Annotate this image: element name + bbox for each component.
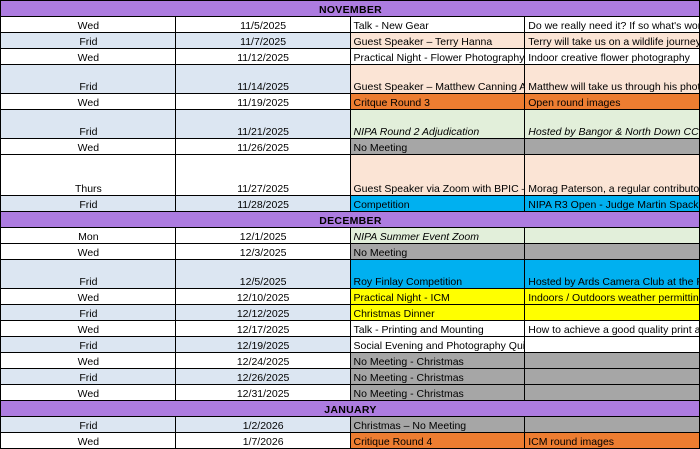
cell-detail: Hosted by Ards Camera Club at the Founta… [525, 260, 700, 289]
cell-detail: Hosted by Bangor & North Down CC, Founta… [525, 110, 700, 139]
month-header-january: JANUARY [1, 401, 700, 417]
cell-date: 12/10/2025 [175, 289, 350, 305]
cell-date: 11/26/2025 [175, 139, 350, 155]
cell-event: Roy Finlay Competition [350, 260, 525, 289]
table-row: Wed12/31/2025No Meeting - Christmas [1, 385, 700, 401]
month-header-november: NOVEMBER [1, 1, 700, 17]
cell-day: Frid [1, 65, 176, 94]
cell-day: Wed [1, 433, 176, 449]
cell-detail: Terry will take us on a wildlife journey [525, 33, 700, 49]
table-row: Frid11/7/2025Guest Speaker – Terry Hanna… [1, 33, 700, 49]
cell-detail: Morag Paterson, a regular contributor to… [525, 155, 700, 196]
cell-day: Frid [1, 305, 176, 321]
table-row: Mon12/1/2025NIPA Summer Event Zoom [1, 228, 700, 244]
month-header-december: DECEMBER [1, 212, 700, 228]
cell-event: Talk - New Gear [350, 17, 525, 33]
cell-event: Social Evening and Photography Quiz [350, 337, 525, 353]
cell-event: No Meeting [350, 244, 525, 260]
cell-date: 12/5/2025 [175, 260, 350, 289]
cell-day: Frid [1, 260, 176, 289]
cell-detail: Indoor creative flower photography [525, 49, 700, 65]
month-header-row: DECEMBER [1, 212, 700, 228]
table-row: Wed11/5/2025Talk - New GearDo we really … [1, 17, 700, 33]
cell-event: Practical Night - ICM [350, 289, 525, 305]
cell-date: 11/12/2025 [175, 49, 350, 65]
cell-day: Wed [1, 353, 176, 369]
cell-date: 11/14/2025 [175, 65, 350, 94]
table-row: Wed12/3/2025No Meeting [1, 244, 700, 260]
cell-day: Wed [1, 17, 176, 33]
table-row: Frid11/14/2025Guest Speaker – Matthew Ca… [1, 65, 700, 94]
cell-event: Guest Speaker – Matthew Canning AIPF, DP… [350, 65, 525, 94]
cell-date: 11/28/2025 [175, 196, 350, 212]
table-row: Frid12/19/2025Social Evening and Photogr… [1, 337, 700, 353]
cell-day: Frid [1, 369, 176, 385]
table-row: Wed12/10/2025Practical Night - ICMIndoor… [1, 289, 700, 305]
cell-detail [525, 244, 700, 260]
table-row: Wed11/19/2025Critque Round 3Open round i… [1, 94, 700, 110]
cell-day: Wed [1, 385, 176, 401]
cell-day: Frid [1, 196, 176, 212]
cell-date: 12/17/2025 [175, 321, 350, 337]
cell-event: No Meeting [350, 139, 525, 155]
cell-detail [525, 139, 700, 155]
cell-event: Talk - Printing and Mounting [350, 321, 525, 337]
cell-event: Christmas – No Meeting [350, 417, 525, 433]
cell-date: 11/21/2025 [175, 110, 350, 139]
cell-day: Wed [1, 139, 176, 155]
cell-date: 12/31/2025 [175, 385, 350, 401]
cell-detail: ICM round images [525, 433, 700, 449]
table-row: Wed11/12/2025Practical Night - Flower Ph… [1, 49, 700, 65]
cell-day: Frid [1, 337, 176, 353]
cell-date: 12/3/2025 [175, 244, 350, 260]
table-row: Frid12/12/2025Christmas Dinner [1, 305, 700, 321]
cell-day: Wed [1, 94, 176, 110]
cell-event: NIPA Round 2 Adjudication [350, 110, 525, 139]
cell-detail [525, 417, 700, 433]
schedule-body: NOVEMBERWed11/5/2025Talk - New GearDo we… [1, 1, 700, 449]
cell-day: Wed [1, 49, 176, 65]
cell-day: Mon [1, 228, 176, 244]
cell-detail [525, 337, 700, 353]
cell-date: 12/24/2025 [175, 353, 350, 369]
cell-date: 12/1/2025 [175, 228, 350, 244]
table-row: Thurs11/27/2025Guest Speaker via Zoom wi… [1, 155, 700, 196]
table-row: Frid12/5/2025Roy Finlay CompetitionHoste… [1, 260, 700, 289]
cell-detail: Indoors / Outdoors weather permitting [525, 289, 700, 305]
month-header-row: JANUARY [1, 401, 700, 417]
cell-detail [525, 353, 700, 369]
cell-date: 1/2/2026 [175, 417, 350, 433]
cell-date: 12/19/2025 [175, 337, 350, 353]
table-row: Wed11/26/2025No Meeting [1, 139, 700, 155]
cell-event: Practical Night - Flower Photography [350, 49, 525, 65]
cell-date: 11/7/2025 [175, 33, 350, 49]
table-row: Frid11/21/2025NIPA Round 2 AdjudicationH… [1, 110, 700, 139]
cell-detail: How to achieve a good quality print and … [525, 321, 700, 337]
table-row: Frid11/28/2025CompetitionNIPA R3 Open - … [1, 196, 700, 212]
cell-date: 1/7/2026 [175, 433, 350, 449]
cell-event: Christmas Dinner [350, 305, 525, 321]
cell-detail [525, 305, 700, 321]
cell-detail [525, 369, 700, 385]
cell-event: No Meeting - Christmas [350, 369, 525, 385]
cell-day: Frid [1, 33, 176, 49]
cell-event: Critique Round 4 [350, 433, 525, 449]
cell-day: Wed [1, 244, 176, 260]
cell-date: 12/26/2025 [175, 369, 350, 385]
cell-detail: Open round images [525, 94, 700, 110]
cell-detail: Do we really need it? If so what's worth… [525, 17, 700, 33]
cell-detail [525, 228, 700, 244]
cell-detail: Matthew will take us through his photogr… [525, 65, 700, 94]
cell-date: 11/27/2025 [175, 155, 350, 196]
table-row: Wed12/24/2025No Meeting - Christmas [1, 353, 700, 369]
cell-date: 12/12/2025 [175, 305, 350, 321]
table-row: Wed12/17/2025Talk - Printing and Mountin… [1, 321, 700, 337]
month-header-row: NOVEMBER [1, 1, 700, 17]
cell-event: Critque Round 3 [350, 94, 525, 110]
cell-event: Guest Speaker – Terry Hanna [350, 33, 525, 49]
table-row: Wed1/7/2026Critique Round 4ICM round ima… [1, 433, 700, 449]
cell-day: Wed [1, 289, 176, 305]
cell-day: Frid [1, 110, 176, 139]
cell-day: Frid [1, 417, 176, 433]
cell-day: Thurs [1, 155, 176, 196]
cell-date: 11/19/2025 [175, 94, 350, 110]
table-row: Frid1/2/2026Christmas – No Meeting [1, 417, 700, 433]
cell-detail [525, 385, 700, 401]
cell-event: No Meeting - Christmas [350, 353, 525, 369]
cell-day: Wed [1, 321, 176, 337]
cell-event: No Meeting - Christmas [350, 385, 525, 401]
cell-date: 11/5/2025 [175, 17, 350, 33]
cell-detail: NIPA R3 Open - Judge Martin Spackman [525, 196, 700, 212]
cell-event: NIPA Summer Event Zoom [350, 228, 525, 244]
cell-event: Guest Speaker via Zoom with BPIC – note … [350, 155, 525, 196]
club-schedule-table: NOVEMBERWed11/5/2025Talk - New GearDo we… [0, 0, 700, 449]
table-row: Frid12/26/2025No Meeting - Christmas [1, 369, 700, 385]
cell-event: Competition [350, 196, 525, 212]
